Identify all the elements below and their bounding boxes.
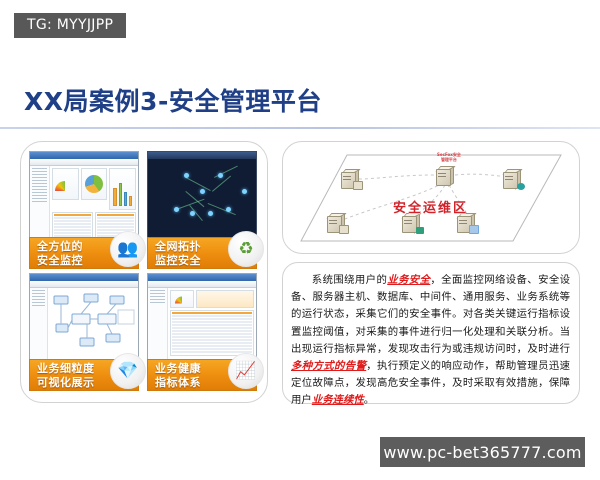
screenshot-flow-diagram [29,273,139,361]
highlighted-term: 业务连续性 [312,394,364,406]
server-node [402,213,419,233]
thumbnail-grid: 全方位的 安全监控 👥 [29,151,261,395]
window-content [48,288,138,360]
thumbnail-item[interactable]: 全方位的 安全监控 👥 [29,151,143,269]
gauge-widget [52,168,79,200]
window-body [148,288,256,360]
data-table [52,212,93,239]
window-titlebar [148,274,256,281]
screenshots-panel: 全方位的 安全监控 👥 [20,141,268,403]
server-node [341,169,358,189]
caption-line-1: 业务健康 [155,362,201,375]
caption-line-1: 全网拓扑 [155,240,201,253]
window-titlebar [30,274,138,281]
text-run: 系统围绕用户的 [312,274,387,286]
title-divider [0,127,600,129]
gauge-widget [170,290,194,308]
screenshot-report-table [147,273,257,361]
topology-graph [156,161,254,236]
bar-widget [109,168,136,210]
caption-line-1: 业务细粒度 [37,362,95,375]
window-menubar [30,159,138,166]
server-node [327,213,344,233]
zone-label: 安全运维区 [393,197,468,216]
window-menubar [148,281,256,288]
server-node [503,169,520,189]
description-panel: 系统围绕用户的业务安全，全面监控网络设备、安全设备、服务器主机、数据库、中间件、… [282,262,580,404]
screenshot-dashboard [29,151,139,239]
thumbnail-item[interactable]: 全网拓扑 监控安全 ♻ [147,151,261,269]
gems-icon: 💎 [110,353,146,389]
text-run: 。 [364,394,374,406]
platform-tag: SecFox安全 管理平台 [437,152,461,162]
thumbnail-item[interactable]: 业务细粒度 可视化展示 💎 [29,273,143,391]
text-run: ，全面监控网络设备、安全设备、服务器主机、数据库、中间件、通用服务、业务系统等的… [291,274,570,355]
data-table [170,310,254,356]
server-node [457,213,474,233]
highlighted-term: 业务安全 [387,274,430,286]
summary-widget [196,290,254,308]
highlighted-term: 多种方式的告警 [291,360,366,372]
window-content [50,166,138,238]
thumbnail-item[interactable]: 业务健康 指标体系 📈 [147,273,261,391]
screenshot-topology [147,151,257,239]
window-titlebar [30,152,138,159]
window-sidebar [30,166,50,238]
window-sidebar [30,288,48,360]
description-text: 系统围绕用户的业务安全，全面监控网络设备、安全设备、服务器主机、数据库、中间件、… [291,272,570,410]
tg-badge: TG: MYYJJPP [14,13,126,38]
window-menubar [30,281,138,288]
window-content [168,288,256,360]
window-body [30,288,138,360]
flow-canvas [50,290,136,354]
server-node-center [436,166,453,186]
diagram-canvas: SecFox安全 管理平台 安全运维区 [297,149,565,248]
chart-person-icon: 📈 [228,353,264,389]
caption-line-1: 全方位的 [37,240,83,253]
window-sidebar [148,288,168,360]
pie-widget [81,168,108,200]
window-body [30,166,138,238]
people-icon: 👥 [110,231,146,267]
architecture-diagram-panel: SecFox安全 管理平台 安全运维区 [282,141,580,254]
recycle-icon: ♻ [228,231,264,267]
window-titlebar [148,152,256,159]
page-title: XX局案例3-安全管理平台 [24,82,322,118]
watermark: www.pc-bet365777.com [380,437,585,467]
